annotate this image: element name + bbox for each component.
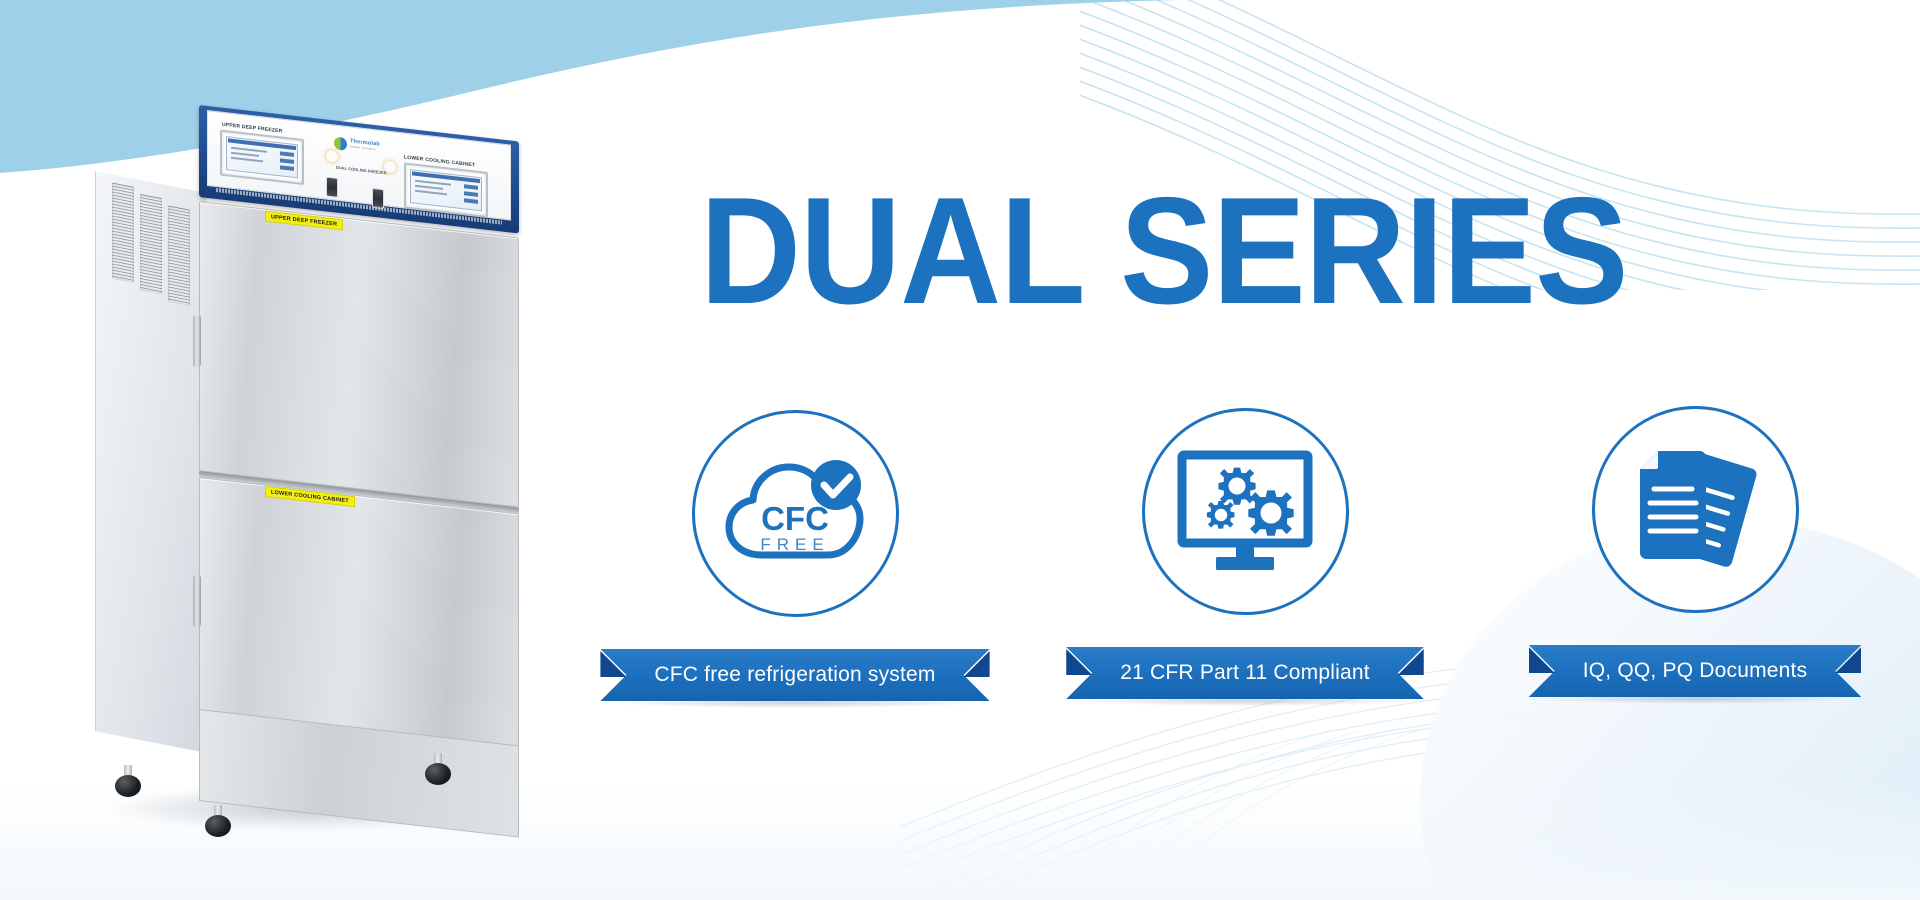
feature-ribbon-documents: IQ, QQ, PQ Documents <box>1529 645 1862 697</box>
screen-button[interactable] <box>464 191 478 197</box>
feature-ribbon-cfr: 21 CFR Part 11 Compliant <box>1066 647 1424 699</box>
feature-list: CFC FREE CFC free refrigeration system <box>600 410 1890 710</box>
cabinet-side-panel <box>95 171 207 753</box>
cfc-text: CFC <box>761 500 829 537</box>
vent-grille-icon <box>140 194 162 294</box>
documents-stack-glyph <box>1628 445 1762 575</box>
upper-touchscreen[interactable] <box>220 129 304 185</box>
ribbon-shadow <box>1543 694 1848 704</box>
indicator-lamp-icon <box>326 150 338 163</box>
screen-button[interactable] <box>280 151 294 157</box>
screen-row <box>231 152 259 157</box>
lamp-label: DUAL COOLING FREEZER <box>336 165 387 176</box>
brand-logo: Thermolab reliable. innovative. <box>334 135 400 159</box>
door-handle[interactable] <box>193 315 201 367</box>
feature-ribbon-wrap: CFC free refrigeration system <box>600 617 989 701</box>
brand-mark-icon <box>334 136 347 150</box>
screen-row <box>231 157 263 163</box>
vent-grille-icon <box>112 183 134 283</box>
documents-stack-icon <box>1592 406 1799 613</box>
screen-button[interactable] <box>464 198 478 204</box>
feature-ribbon-wrap: 21 CFR Part 11 Compliant <box>1066 615 1424 699</box>
screen-row <box>415 185 443 190</box>
screen-row <box>415 190 447 196</box>
caster-wheel-icon <box>425 753 451 783</box>
ribbon-shadow <box>614 698 975 708</box>
cfc-free-cloud-icon: CFC FREE <box>692 410 899 617</box>
caster-wheel-icon <box>205 805 231 835</box>
screen-content <box>226 136 298 178</box>
upper-freezer-door[interactable] <box>199 201 519 507</box>
feature-ribbon-wrap: IQ, QQ, PQ Documents <box>1529 613 1862 697</box>
vent-grille-icon <box>168 205 190 305</box>
feature-ribbon-cfc: CFC free refrigeration system <box>600 649 989 701</box>
page-title: DUAL SERIES <box>700 175 1786 327</box>
screen-button[interactable] <box>464 184 478 190</box>
monitor-gears-icon <box>1142 408 1349 615</box>
lower-touchscreen[interactable] <box>404 162 488 218</box>
door-handle[interactable] <box>193 575 201 627</box>
free-text: FREE <box>760 535 829 554</box>
feature-item-cfr-compliant: 21 CFR Part 11 Compliant <box>1050 408 1440 699</box>
screen-button[interactable] <box>280 165 294 171</box>
monitor-gears-glyph <box>1176 449 1314 575</box>
power-switch[interactable] <box>326 177 338 198</box>
screen-content <box>410 169 482 211</box>
control-panel-face: UPPER DEEP FREEZER LOWER COOLING CABINET <box>207 110 511 221</box>
product-banner: UPPER DEEP FREEZER LOWER COOLING CABINET <box>0 0 1920 900</box>
caster-wheel-icon <box>115 765 141 795</box>
lower-cabinet-door[interactable] <box>199 477 519 751</box>
feature-item-documents: IQ, QQ, PQ Documents <box>1500 406 1890 697</box>
cfc-free-cloud-glyph: CFC FREE <box>720 451 870 576</box>
screen-button[interactable] <box>280 158 294 164</box>
product-image: UPPER DEEP FREEZER LOWER COOLING CABINET <box>95 105 525 825</box>
feature-item-cfc-free: CFC FREE CFC free refrigeration system <box>600 410 990 701</box>
ribbon-shadow <box>1080 696 1410 706</box>
